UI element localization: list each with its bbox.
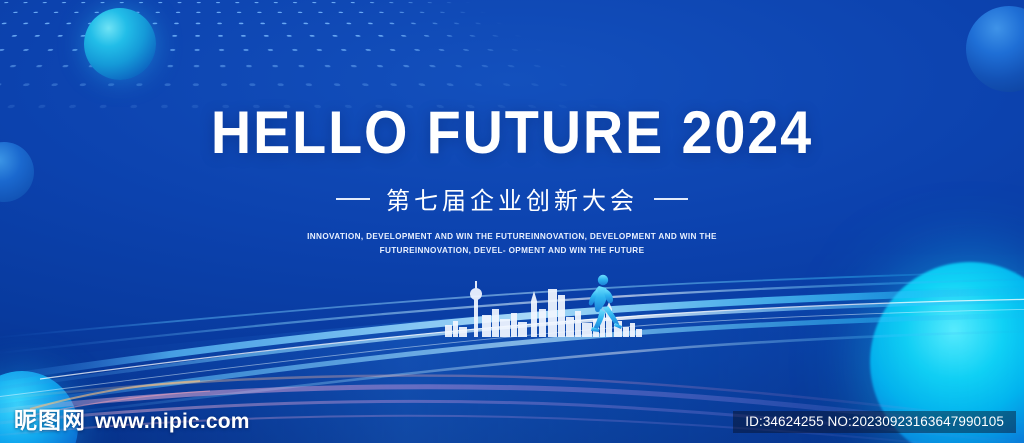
page-title: HELLO FUTURE 2024 bbox=[36, 0, 988, 163]
dash-right-icon bbox=[654, 198, 688, 200]
watermark-url: www.nipic.com bbox=[95, 410, 250, 434]
banner-canvas: HELLO FUTURE 2024 第七届企业创新大会 INNOVATION, … bbox=[0, 0, 1024, 443]
subtitle-row: 第七届企业创新大会 bbox=[0, 181, 1024, 216]
subtitle-chinese: 第七届企业创新大会 bbox=[386, 181, 638, 216]
tagline: INNOVATION, DEVELOPMENT AND WIN THE FUTU… bbox=[277, 230, 747, 259]
banner-content: HELLO FUTURE 2024 第七届企业创新大会 INNOVATION, … bbox=[0, 0, 1024, 259]
tagline-line-2: OPMENT AND WIN THE FUTURE bbox=[509, 246, 645, 255]
image-identifier: ID:34624255 NO:20230923163647990105 bbox=[733, 411, 1016, 433]
watermark: 昵图网 www.nipic.com bbox=[14, 401, 250, 435]
watermark-logo: 昵图网 bbox=[14, 401, 86, 435]
running-person-icon bbox=[575, 273, 631, 335]
dash-left-icon bbox=[336, 198, 370, 200]
